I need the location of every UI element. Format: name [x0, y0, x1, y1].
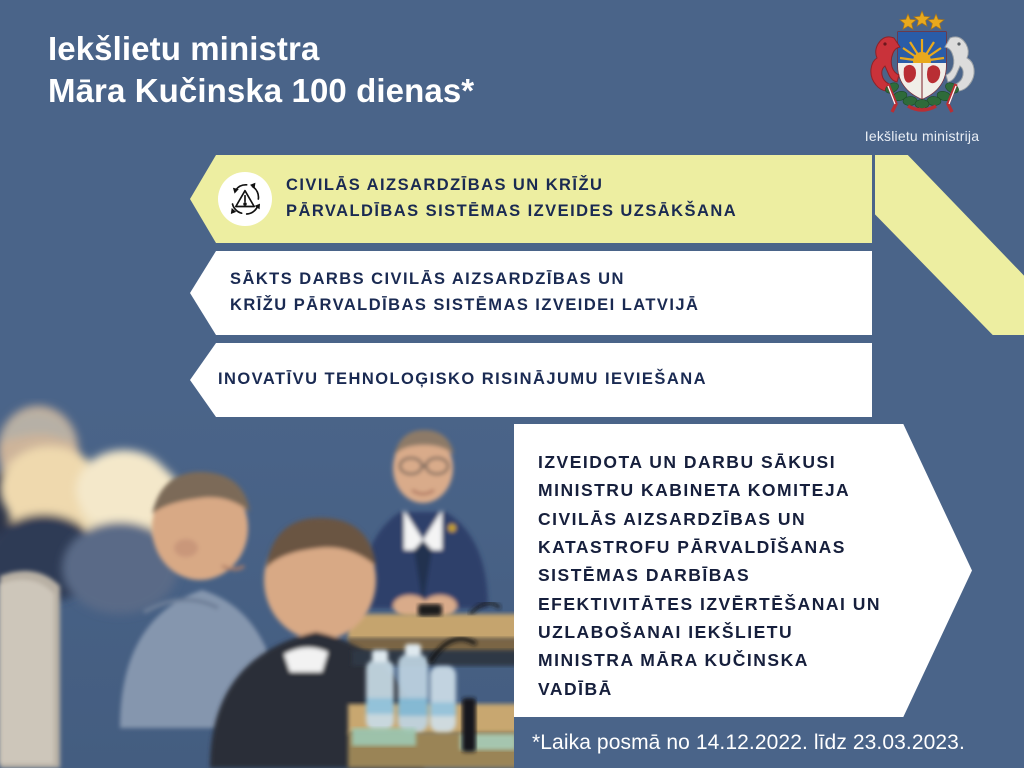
- banner-text-2: INOVATĪVU TEHNOLOĢISKO RISINĀJUMU IEVIEŠ…: [218, 367, 707, 393]
- banner-text-1: SĀKTS DARBS CIVILĀS AIZSARDZĪBAS UN KRĪŽ…: [230, 267, 699, 318]
- highlight-callout-text: IZVEIDOTA UN DARBU SĀKUSI MINISTRU KABIN…: [538, 448, 972, 703]
- page-title: Iekšlietu ministra Māra Kučinska 100 die…: [48, 28, 474, 112]
- government-meeting-photo: [0, 398, 520, 768]
- ministry-logo-caption: Iekšlietu ministrija: [834, 128, 1010, 144]
- footnote-text: *Laika posmā no 14.12.2022. līdz 23.03.2…: [532, 731, 965, 755]
- footnote-bar: *Laika posmā no 14.12.2022. līdz 23.03.2…: [514, 717, 1024, 768]
- latvian-coat-of-arms-icon: [848, 8, 996, 126]
- yellow-decorative-arrow: [875, 155, 1024, 335]
- ministry-logo: Iekšlietu ministrija: [834, 8, 1010, 144]
- highlight-callout: IZVEIDOTA UN DARBU SĀKUSI MINISTRU KABIN…: [514, 424, 972, 717]
- banner-text-0: CIVILĀS AIZSARDZĪBAS UN KRĪŽU PĀRVALDĪBA…: [286, 173, 737, 224]
- banner-row-2: INOVATĪVU TEHNOLOĢISKO RISINĀJUMU IEVIEŠ…: [190, 343, 872, 417]
- warning-recycle-icon: [218, 172, 272, 226]
- banner-row-1: SĀKTS DARBS CIVILĀS AIZSARDZĪBAS UN KRĪŽ…: [190, 251, 872, 335]
- infographic-poster: Iekšlietu ministra Māra Kučinska 100 die…: [0, 0, 1024, 768]
- banner-row-0: CIVILĀS AIZSARDZĪBAS UN KRĪŽU PĀRVALDĪBA…: [190, 155, 872, 243]
